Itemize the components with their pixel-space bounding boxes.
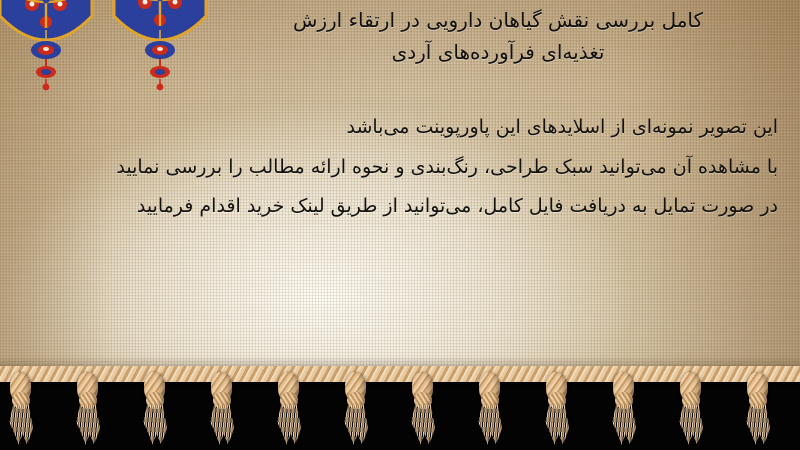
tassel-skirt [276, 405, 302, 445]
title-line-2: تغذیه‌ای فرآورده‌های آردی [218, 36, 778, 68]
tassel-skirt [75, 405, 101, 445]
tassel-skirt [8, 405, 34, 445]
body-line-1: این تصویر نمونه‌ای از اسلایدهای این پاور… [22, 108, 778, 148]
title-line-1: کامل بررسی نقش گیاهان دارویی در ارتقاء ا… [218, 4, 778, 36]
tassel-skirt [410, 405, 436, 445]
body-line-2: با مشاهده آن می‌توانید سبک طراحی، رنگ‌بن… [22, 148, 778, 188]
tassel-icon [743, 372, 773, 446]
tassel-icon [676, 372, 706, 446]
tassel-skirt [611, 405, 637, 445]
persian-illumination-medallion-icon [112, 0, 208, 98]
tassel-skirt [678, 405, 704, 445]
tassel-icon [207, 372, 237, 446]
tassel-icon [609, 372, 639, 446]
tassel-icon [73, 372, 103, 446]
tassel-skirt [209, 405, 235, 445]
tassel-icon [408, 372, 438, 446]
tassel-skirt [142, 405, 168, 445]
tassel-fringe-icon [0, 358, 800, 450]
tassel-icon [341, 372, 371, 446]
slide-body: این تصویر نمونه‌ای از اسلایدهای این پاور… [22, 108, 778, 227]
tassel-skirt [343, 405, 369, 445]
tassel-icon [475, 372, 505, 446]
body-line-3: در صورت تمایل به دریافت فایل کامل، می‌تو… [22, 187, 778, 227]
tassel-skirt [544, 405, 570, 445]
slide-title: کامل بررسی نقش گیاهان دارویی در ارتقاء ا… [218, 4, 778, 69]
tassel-icon [542, 372, 572, 446]
tassel-icon [274, 372, 304, 446]
persian-illumination-medallion-icon [0, 0, 94, 98]
tassel-icon [140, 372, 170, 446]
presentation-slide: کامل بررسی نقش گیاهان دارویی در ارتقاء ا… [0, 0, 800, 450]
tassel-skirt [745, 405, 771, 445]
tassel-icon [6, 372, 36, 446]
tassel-skirt [477, 405, 503, 445]
